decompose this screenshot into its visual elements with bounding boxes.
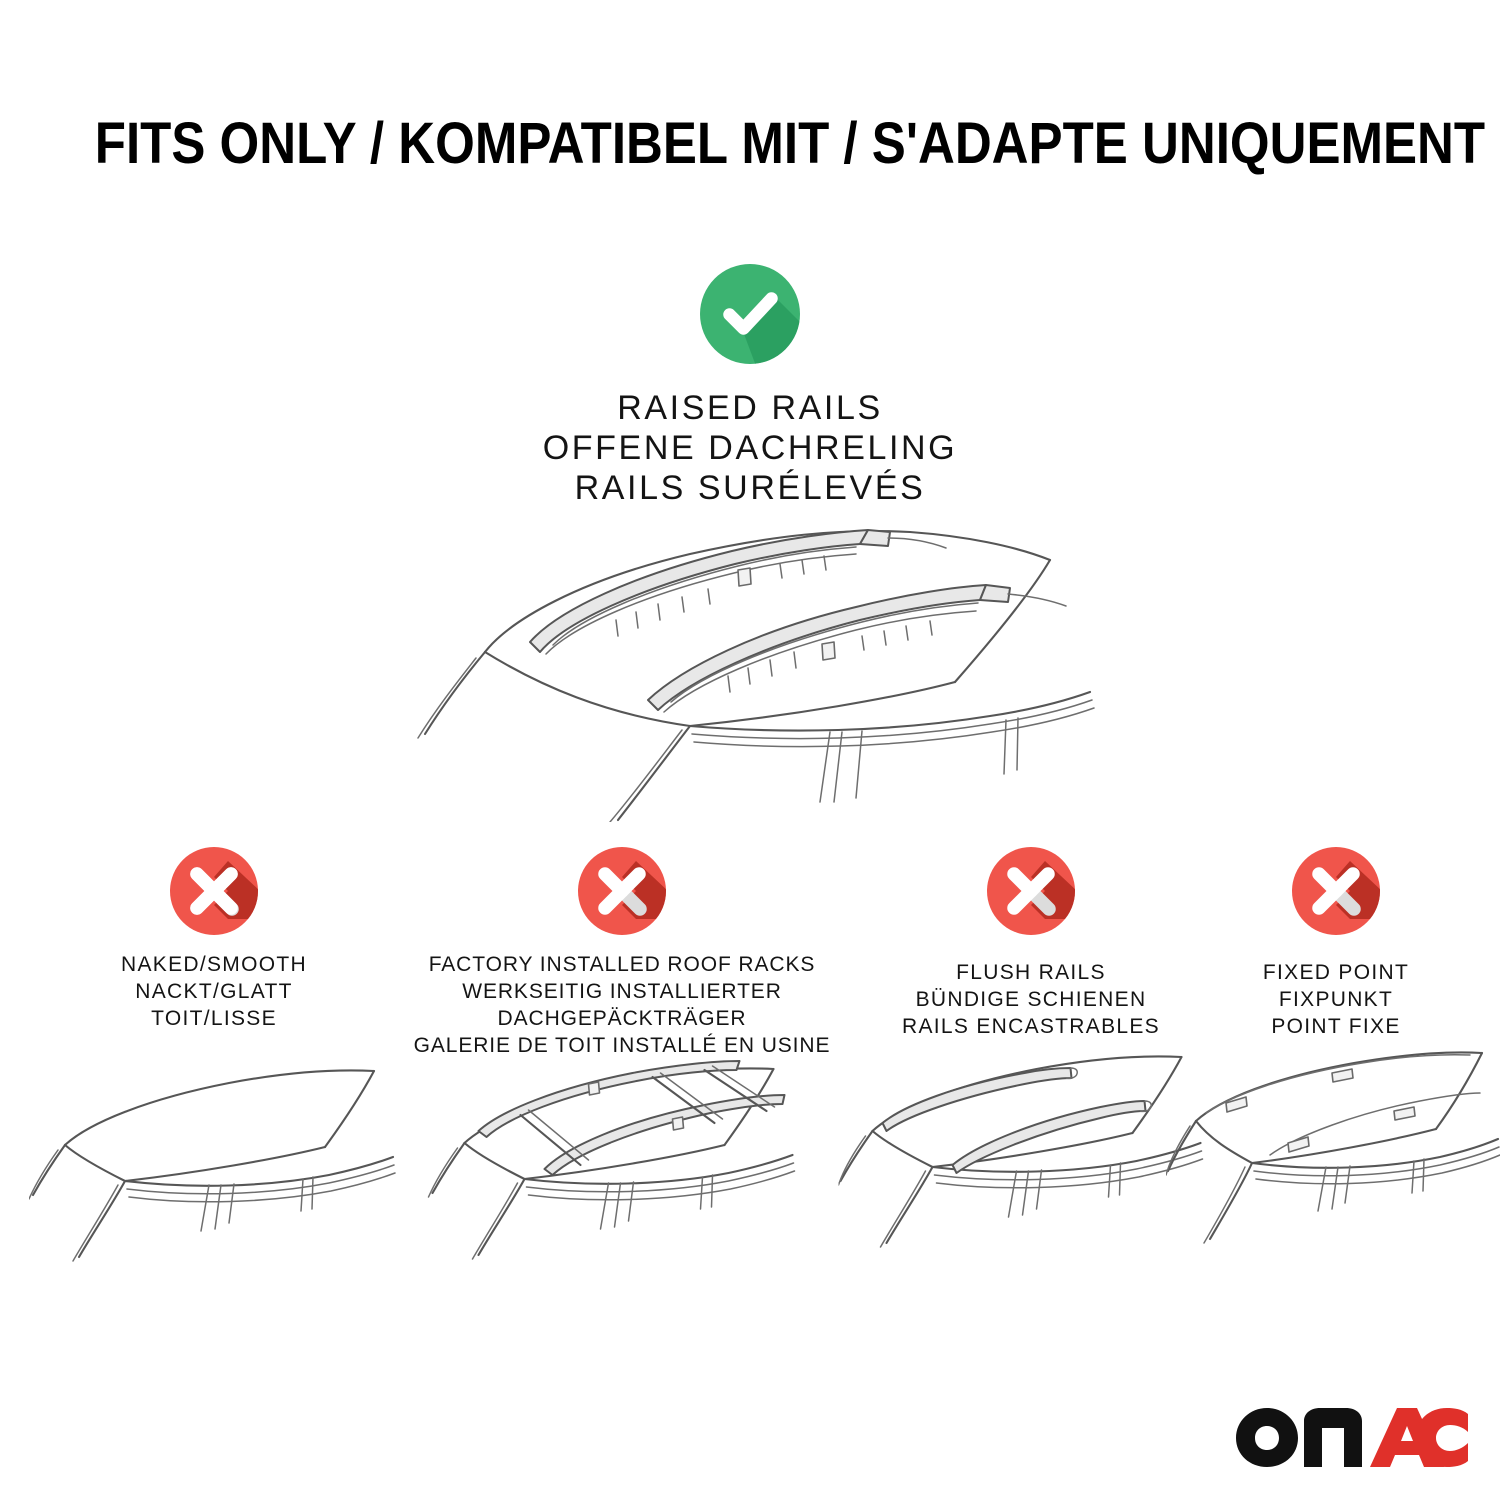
not-compatible-section: NAKED/SMOOTH NACKT/GLATT TOIT/LISSE: [0, 845, 1500, 1305]
reject-label-factory-de-1: WERKSEITIG INSTALLIERTER: [398, 978, 846, 1005]
reject-label-fixed-fr: POINT FIXE: [1180, 1013, 1492, 1040]
reject-label-naked-de: NACKT/GLATT: [28, 978, 400, 1005]
reject-label-stack-naked: NAKED/SMOOTH NACKT/GLATT TOIT/LISSE: [28, 951, 400, 1032]
reject-column-factory: FACTORY INSTALLED ROOF RACKS WERKSEITIG …: [398, 845, 846, 1059]
car-roof-naked-smooth-illustration: [29, 1063, 399, 1278]
compatible-label-stack: RAISED RAILS OFFENE DACHRELING RAILS SUR…: [0, 388, 1500, 508]
compatible-label-de: OFFENE DACHRELING: [0, 428, 1500, 468]
car-roof-factory-roof-rack-illustration: [425, 1051, 820, 1281]
reject-label-fixed-de: FIXPUNKT: [1180, 986, 1492, 1013]
reject-column-fixed-point: FIXED POINT FIXPUNKT POINT FIXE: [1180, 845, 1492, 1040]
reject-column-flush: FLUSH RAILS BÜNDIGE SCHIENEN RAILS ENCAS…: [845, 845, 1217, 1040]
compatible-label-en: RAISED RAILS: [0, 388, 1500, 428]
cross-circle-icon: [168, 845, 260, 937]
cross-circle-icon: [576, 845, 668, 937]
compatible-section: RAISED RAILS OFFENE DACHRELING RAILS SUR…: [0, 262, 1500, 508]
title-bar: FITS ONLY / KOMPATIBEL MIT / S'ADAPTE UN…: [0, 112, 1500, 176]
reject-label-fixed-en: FIXED POINT: [1180, 959, 1492, 986]
reject-label-stack-flush: FLUSH RAILS BÜNDIGE SCHIENEN RAILS ENCAS…: [845, 959, 1217, 1040]
omac-logo: [1234, 1406, 1470, 1468]
car-roof-with-raised-rails-illustration: [390, 502, 1110, 822]
car-roof-fixed-point-illustration: [1166, 1051, 1500, 1276]
reject-label-flush-fr: RAILS ENCASTRABLES: [845, 1013, 1217, 1040]
reject-label-naked-fr: TOIT/LISSE: [28, 1005, 400, 1032]
reject-column-naked: NAKED/SMOOTH NACKT/GLATT TOIT/LISSE: [28, 845, 400, 1032]
check-circle-icon: [698, 262, 802, 366]
page-title: FITS ONLY / KOMPATIBEL MIT / S'ADAPTE UN…: [95, 112, 1485, 176]
reject-label-naked-en: NAKED/SMOOTH: [28, 951, 400, 978]
reject-label-stack-factory: FACTORY INSTALLED ROOF RACKS WERKSEITIG …: [398, 951, 846, 1059]
reject-label-factory-de-2: DACHGEPÄCKTRÄGER: [398, 1005, 846, 1032]
reject-label-flush-en: FLUSH RAILS: [845, 959, 1217, 986]
cross-circle-icon: [985, 845, 1077, 937]
reject-label-flush-de: BÜNDIGE SCHIENEN: [845, 986, 1217, 1013]
reject-label-factory-en: FACTORY INSTALLED ROOF RACKS: [398, 951, 846, 978]
cross-circle-icon: [1290, 845, 1382, 937]
reject-label-stack-fixed-point: FIXED POINT FIXPUNKT POINT FIXE: [1180, 959, 1492, 1040]
